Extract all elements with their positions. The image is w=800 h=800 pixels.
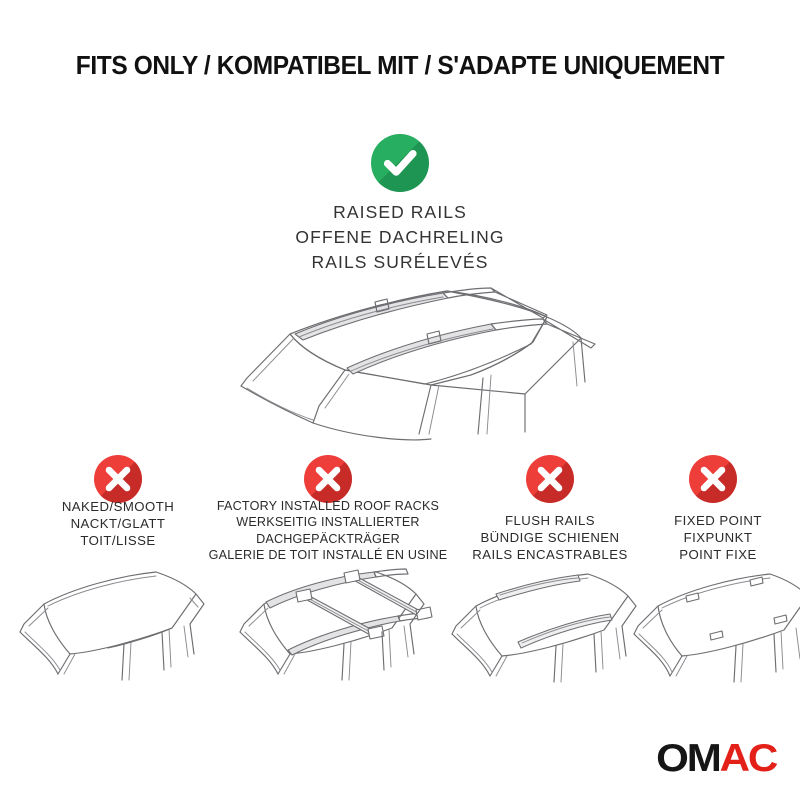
compatible-label-en: RAISED RAILS — [0, 200, 800, 225]
logo-text-ac: AC — [719, 737, 776, 780]
label-fr: TOIT/LISSE — [0, 532, 236, 549]
page-title: FITS ONLY / KOMPATIBEL MIT / S'ADAPTE UN… — [16, 52, 784, 81]
compatible-label-fr: RAILS SURÉLEVÉS — [0, 250, 800, 275]
fitment-infographic: FITS ONLY / KOMPATIBEL MIT / S'ADAPTE UN… — [0, 0, 800, 800]
compatible-labels: RAISED RAILS OFFENE DACHRELING RAILS SUR… — [0, 200, 800, 275]
label-en: FIXED POINT — [636, 512, 800, 529]
car-roof-fixed-point-illustration — [628, 560, 800, 684]
compatible-label-de: OFFENE DACHRELING — [0, 225, 800, 250]
omac-logo: OMAC — [656, 739, 776, 778]
label-de-1: WERKSEITIG INSTALLIERTER — [208, 514, 448, 530]
x-circle-icon — [304, 455, 352, 503]
label-de: BÜNDIGE SCHIENEN — [444, 529, 656, 546]
label-de: NACKT/GLATT — [0, 515, 236, 532]
label-en: NAKED/SMOOTH — [0, 498, 236, 515]
label-de: FIXPUNKT — [636, 529, 800, 546]
car-roof-with-factory-crossbars-illustration — [226, 556, 436, 682]
check-circle-icon — [371, 134, 429, 192]
incompatible-labels-1: NAKED/SMOOTH NACKT/GLATT TOIT/LISSE — [0, 498, 236, 549]
label-fr: RAILS ENCASTRABLES — [444, 546, 656, 563]
incompatible-labels-2: FACTORY INSTALLED ROOF RACKS WERKSEITIG … — [208, 498, 448, 563]
car-roof-flush-rails-illustration — [444, 562, 640, 684]
label-en: FACTORY INSTALLED ROOF RACKS — [208, 498, 448, 514]
incompatible-labels-3: FLUSH RAILS BÜNDIGE SCHIENEN RAILS ENCAS… — [444, 512, 656, 563]
car-roof-with-raised-rails-illustration — [195, 282, 615, 447]
x-circle-icon — [689, 455, 737, 503]
car-roof-naked-smooth-illustration — [14, 562, 214, 682]
label-de-2: DACHGEPÄCKTRÄGER — [208, 531, 448, 547]
x-circle-icon — [526, 455, 574, 503]
incompatible-labels-4: FIXED POINT FIXPUNKT POINT FIXE — [636, 512, 800, 563]
logo-text-om: OM — [656, 737, 720, 780]
x-circle-icon — [94, 455, 142, 503]
label-en: FLUSH RAILS — [444, 512, 656, 529]
